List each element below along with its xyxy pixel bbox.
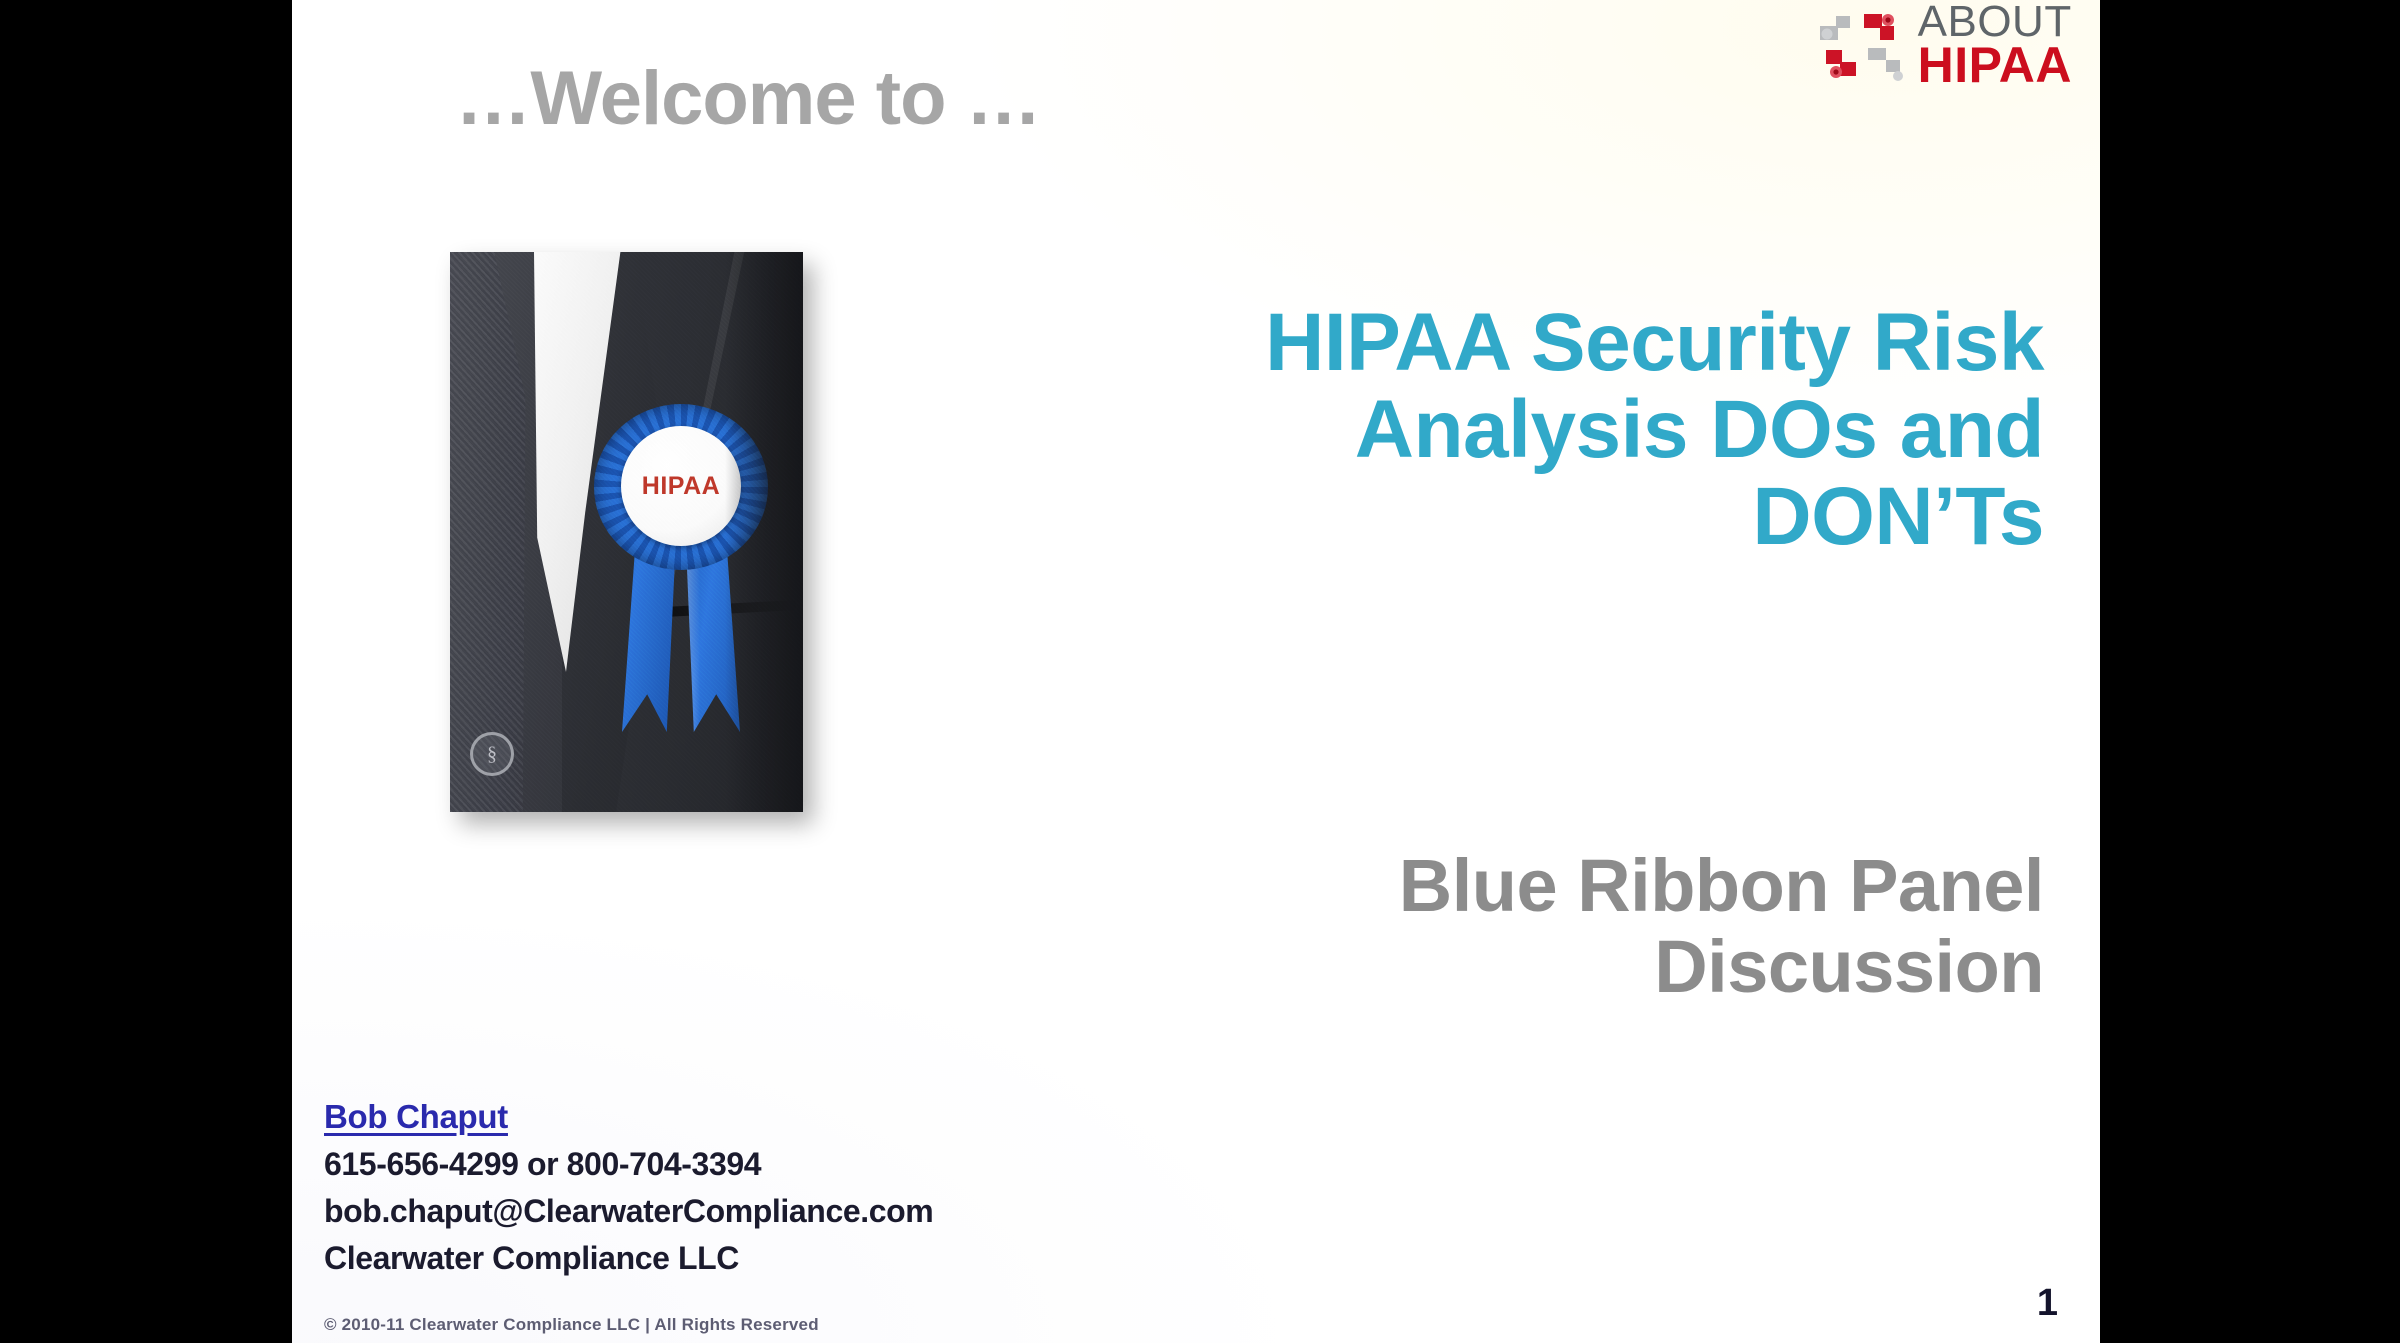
presenter-name-link[interactable]: Bob Chaput [324,1098,508,1136]
photo-fabric-texture [450,252,803,812]
page-subtitle: Blue Ribbon Panel Discussion [1064,845,2044,1008]
brand-wordmark: ABOUT HIPAA [1918,2,2072,88]
presenter-company: Clearwater Compliance LLC [324,1240,933,1277]
presenter-contact-block: Bob Chaput 615-656-4299 or 800-704-3394 … [324,1098,933,1277]
title-block: HIPAA Security Risk Analysis DOs and DON… [1064,300,2044,561]
presenter-email: bob.chaput@ClearwaterCompliance.com [324,1193,933,1230]
about-hipaa-logo: ABOUT HIPAA [1814,2,2072,88]
slide-viewer: ABOUT HIPAA …Welcome to … [0,0,2400,1343]
presentation-slide: ABOUT HIPAA …Welcome to … [292,0,2100,1343]
letterbox-left [0,0,292,1343]
brand-line-about: ABOUT [1918,2,2072,42]
suit-ribbon-photo: HIPAA § [450,252,803,812]
presenter-phone: 615-656-4299 or 800-704-3394 [324,1146,933,1183]
page-number: 1 [2037,1282,2058,1325]
page-title: HIPAA Security Risk Analysis DOs and DON… [1064,300,2044,561]
photo-watermark-glyph: § [487,744,497,764]
welcome-heading: …Welcome to … [378,55,1118,142]
copyright-notice: © 2010-11 Clearwater Compliance LLC | Al… [324,1315,819,1335]
about-hipaa-pinwheel-icon [1814,4,1910,86]
letterbox-right [2100,0,2400,1343]
brand-line-hipaa: HIPAA [1918,42,2072,88]
photo-watermark-badge-icon: § [470,732,514,776]
